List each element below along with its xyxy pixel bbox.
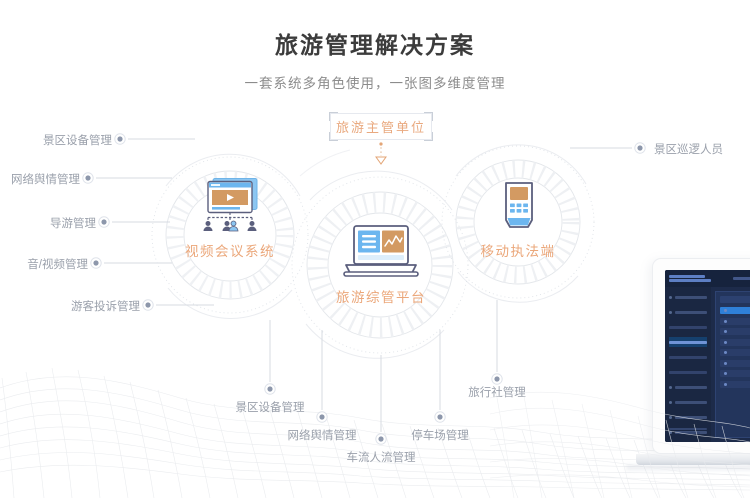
dashboard-sidebar-item <box>669 322 707 332</box>
laptop-bezel <box>652 258 750 454</box>
laptop-screen <box>665 270 750 442</box>
dashboard-sidebar-item <box>669 412 707 422</box>
handheld-device-icon <box>497 180 541 236</box>
laptop-dashboard-preview <box>652 258 750 480</box>
dashboard-sidebar <box>665 287 711 442</box>
dashboard-sidebar-item <box>669 382 707 392</box>
left-connectors <box>83 134 214 310</box>
dashboard-main-panel <box>715 291 750 438</box>
dashboard-row <box>720 370 750 377</box>
dashboard-row <box>720 339 750 346</box>
dashboard-row <box>720 318 750 325</box>
spoke-label-right-1[interactable]: 景区巡逻人员 <box>654 141 723 157</box>
dashboard-row <box>720 328 750 335</box>
badge-corner-top-right <box>424 112 433 121</box>
authority-badge[interactable]: 旅游主管单位 <box>330 113 432 140</box>
dashboard-sidebar-item <box>669 307 707 317</box>
badge-corner-bottom-right <box>424 132 433 141</box>
badge-corner-top-left <box>329 112 338 121</box>
laptop-dashboard-icon <box>340 224 422 282</box>
laptop-base-shadow <box>626 465 750 470</box>
authority-badge-label: 旅游主管单位 <box>336 117 426 136</box>
spoke-label-left-1[interactable]: 景区设备管理 <box>12 132 112 148</box>
badge-corner-bottom-left <box>329 132 338 141</box>
dashboard-topbar <box>665 270 750 287</box>
video-window-icon <box>196 176 264 234</box>
dashboard-sidebar-footer <box>669 428 707 436</box>
spoke-label-bottom-1[interactable]: 景区设备管理 <box>228 399 312 415</box>
spoke-label-bottom-5[interactable]: 旅行社管理 <box>455 384 539 400</box>
dashboard-sidebar-item <box>669 292 707 302</box>
spoke-label-bottom-4[interactable]: 停车场管理 <box>398 427 482 443</box>
spoke-label-left-3[interactable]: 导游管理 <box>16 215 96 231</box>
dashboard-row <box>720 349 750 356</box>
spoke-label-left-4[interactable]: 音/视频管理 <box>0 256 88 272</box>
dashboard-logo <box>669 275 711 282</box>
spoke-label-left-5[interactable]: 游客投诉管理 <box>36 298 140 314</box>
node-label-mobile-enforcement[interactable]: 移动执法端 <box>463 240 573 260</box>
dashboard-sidebar-item <box>669 367 707 377</box>
bottom-connectors <box>265 300 502 444</box>
laptop-base <box>636 454 750 465</box>
dashboard-row <box>720 360 750 367</box>
node-label-tourism-platform[interactable]: 旅游综管平台 <box>321 286 441 306</box>
dashboard-row-selected <box>720 307 750 314</box>
dashboard-top-menu <box>733 277 750 280</box>
dashboard-sidebar-item-active <box>669 337 707 347</box>
dashboard-row <box>720 381 750 388</box>
authority-badge-box: 旅游主管单位 <box>330 113 432 140</box>
dashboard-sidebar-item <box>669 397 707 407</box>
spoke-label-bottom-2[interactable]: 网络舆情管理 <box>280 427 364 443</box>
right-connectors <box>570 143 645 153</box>
dashboard-sidebar-item <box>669 352 707 362</box>
spoke-label-left-2[interactable]: 网络舆情管理 <box>0 171 80 187</box>
dashboard-panel-header <box>720 296 750 303</box>
spoke-label-bottom-3[interactable]: 车流人流管理 <box>339 449 423 465</box>
node-label-video-conference[interactable]: 视频会议系统 <box>170 240 290 260</box>
infographic-root: 旅游管理解决方案 一套系统多角色使用，一张图多维度管理 .ring-outlin… <box>0 0 750 498</box>
